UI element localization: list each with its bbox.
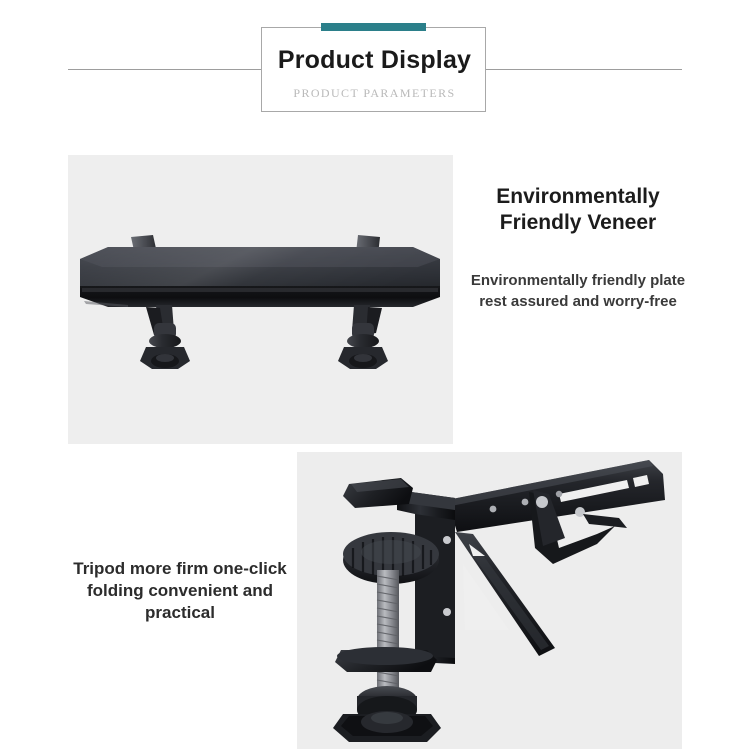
page-subtitle: PRODUCT PARAMETERS <box>262 86 487 101</box>
page-header: Product Display PRODUCT PARAMETERS <box>0 0 749 135</box>
veneer-body-text: Environmentally friendly plate rest assu… <box>463 270 693 312</box>
header-title-box: Product Display PRODUCT PARAMETERS <box>261 27 486 112</box>
header-rule-left <box>68 69 264 70</box>
tripod-headline: Tripod more firm one-click folding conve… <box>60 558 300 624</box>
product-display-page: Product Display PRODUCT PARAMETERS <box>0 0 749 749</box>
veneer-headline: Environmentally Friendly Veneer <box>463 184 693 236</box>
section-copy-veneer: Environmentally Friendly Veneer Environm… <box>463 184 693 312</box>
folding-bracket-illustration <box>297 452 682 749</box>
section-copy-tripod: Tripod more firm one-click folding conve… <box>60 558 300 624</box>
header-rule-right <box>484 69 682 70</box>
page-title: Product Display <box>262 45 487 75</box>
product-photo-folding-bracket <box>297 452 682 749</box>
keyboard-shelf-illustration <box>68 155 453 444</box>
product-photo-keyboard-shelf <box>68 155 453 444</box>
header-accent-bar <box>321 23 426 31</box>
